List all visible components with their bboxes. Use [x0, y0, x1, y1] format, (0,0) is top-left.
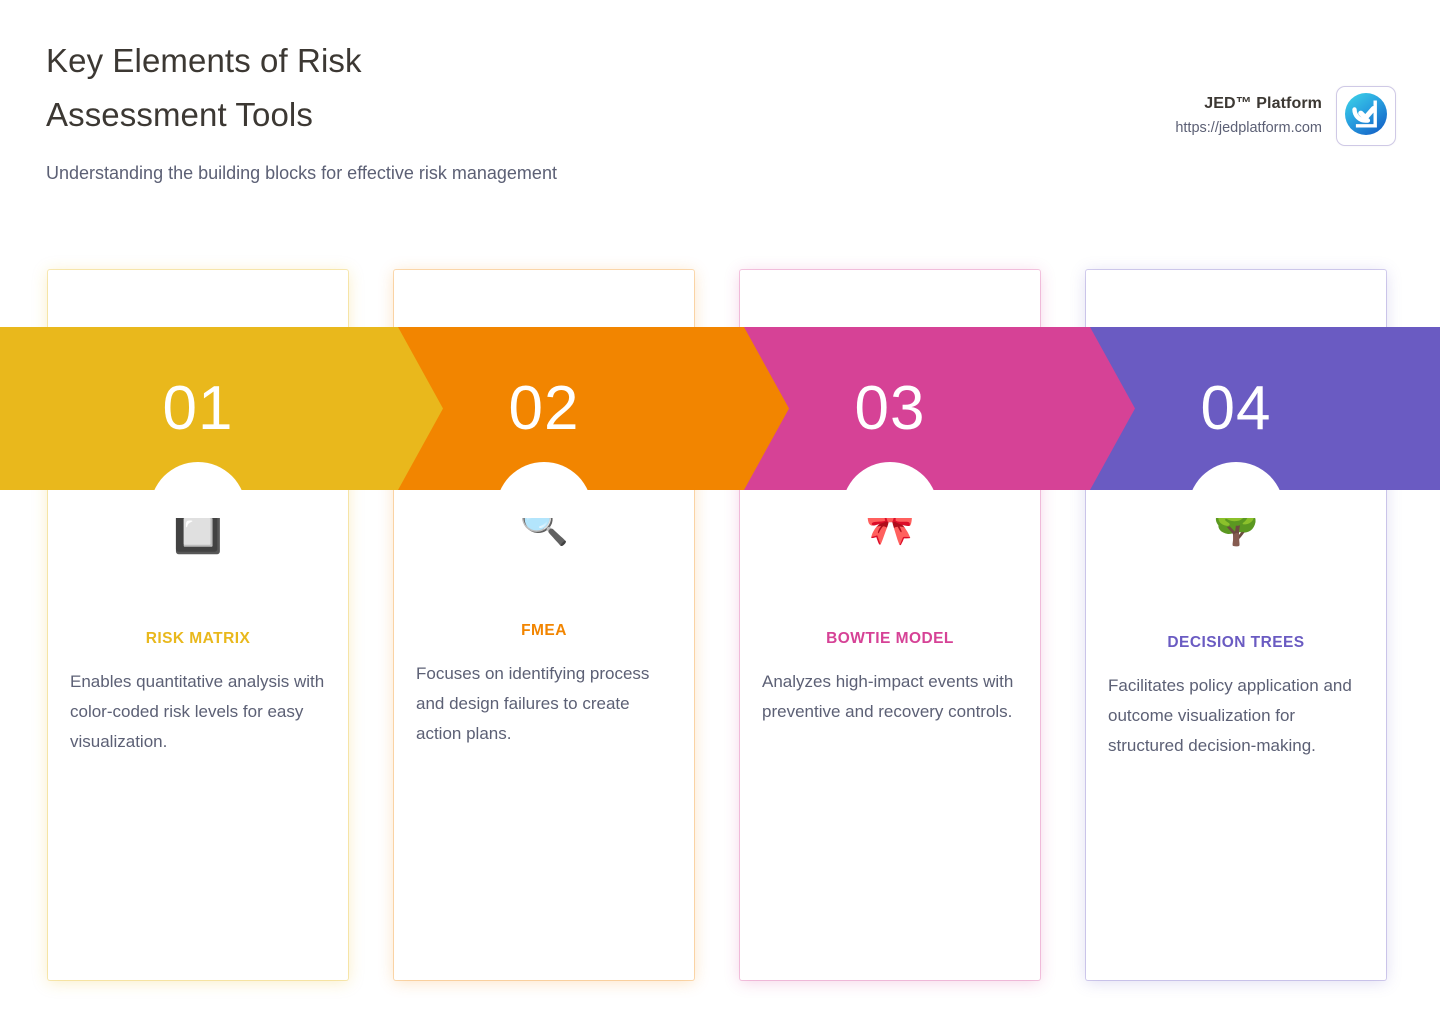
step-card-1-title: RISK MATRIX	[70, 628, 326, 650]
step-card-1-description: Enables quantitative analysis with color…	[70, 667, 326, 757]
step-card-1-body: 🔲 RISK MATRIX Enables quantitative analy…	[48, 510, 348, 757]
page-header: Key Elements of Risk Assessment Tools Un…	[46, 34, 686, 189]
step-card-4-body: 🌳 DECISION TREES Facilitates policy appl…	[1086, 502, 1386, 761]
step-card-3-body: 🎀 BOWTIE MODEL Analyzes high-impact even…	[740, 502, 1040, 727]
page-title-line-1: Key Elements of Risk	[46, 34, 686, 88]
step-card-2-title: FMEA	[416, 620, 672, 642]
infographic-page: Key Elements of Risk Assessment Tools Un…	[0, 0, 1440, 1024]
brand-text: JED™ Platform https://jedplatform.com	[1175, 93, 1322, 139]
brand-url[interactable]: https://jedplatform.com	[1175, 117, 1322, 139]
step-card-2-description: Focuses on identifying process and desig…	[416, 659, 672, 749]
step-card-3-title: BOWTIE MODEL	[762, 628, 1018, 650]
chevron-segment-1	[0, 327, 443, 490]
brand-block: JED™ Platform https://jedplatform.com	[1175, 86, 1396, 146]
page-title-line-2: Assessment Tools	[46, 88, 686, 142]
step-card-2-body: 🔍 FMEA Focuses on identifying process an…	[394, 502, 694, 749]
step-card-3-description: Analyzes high-impact events with prevent…	[762, 667, 1018, 727]
brand-name: JED™ Platform	[1175, 93, 1322, 115]
page-title: Key Elements of Risk Assessment Tools	[46, 34, 686, 142]
page-subtitle: Understanding the building blocks for ef…	[46, 158, 586, 189]
document-check-logo-icon	[1343, 91, 1389, 142]
brand-logo-badge	[1336, 86, 1396, 146]
step-card-4-title: DECISION TREES	[1108, 632, 1364, 654]
step-card-4-description: Facilitates policy application and outco…	[1108, 671, 1364, 761]
